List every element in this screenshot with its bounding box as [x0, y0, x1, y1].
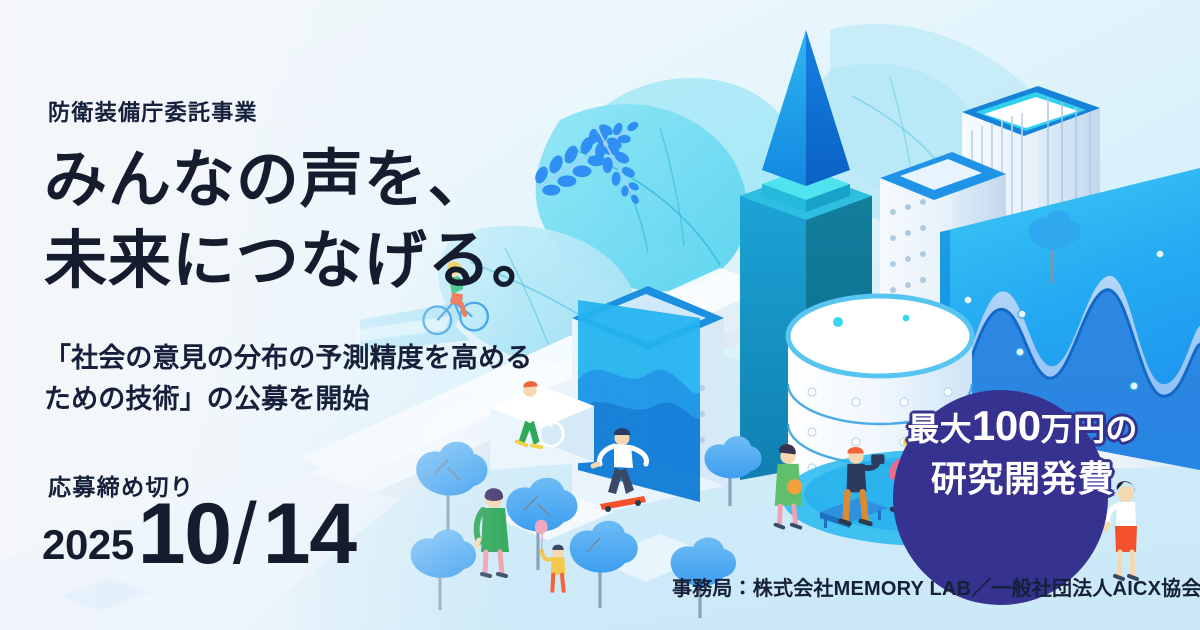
subtitle-line-1: 「社会の意見の分布の予測精度を高める [44, 338, 644, 379]
funding-suffix: 万円の [1041, 411, 1138, 447]
deadline-year: 2025 [42, 524, 134, 572]
deadline-day: 14 [263, 498, 356, 572]
headline-line-2: 未来につなげる。 [44, 221, 604, 302]
deadline-date: 2025 10 / 14 [42, 498, 356, 572]
headline-line-1: みんなの声を、 [44, 145, 492, 215]
eyebrow-label: 防衛装備庁委託事業 [48, 95, 258, 127]
deadline-month: 10 [138, 498, 231, 572]
funding-prefix: 最大 [907, 411, 972, 447]
funding-badge-line-2: 研究開発費 [885, 457, 1160, 501]
subtitle-line-2: ための技術」の公募を開始 [44, 379, 644, 420]
subtitle: 「社会の意見の分布の予測精度を高める ための技術」の公募を開始 [44, 338, 644, 420]
page-title: みんなの声を、 未来につなげる。 [44, 140, 604, 301]
promo-banner: 防衛装備庁委託事業 みんなの声を、 未来につなげる。 「社会の意見の分布の予測精… [0, 0, 1200, 630]
text-block: 防衛装備庁委託事業 みんなの声を、 未来につなげる。 「社会の意見の分布の予測精… [0, 0, 640, 630]
funding-badge-text: 最大100万円の 研究開発費 [885, 400, 1160, 501]
deadline-separator: / [233, 498, 257, 572]
funding-amount: 100 [972, 402, 1041, 449]
organizer-credit: 事務局：株式会社MEMORY LAB／一般社団法人AICX協会 [672, 572, 1200, 601]
funding-badge-line-1: 最大100万円の [885, 400, 1160, 451]
